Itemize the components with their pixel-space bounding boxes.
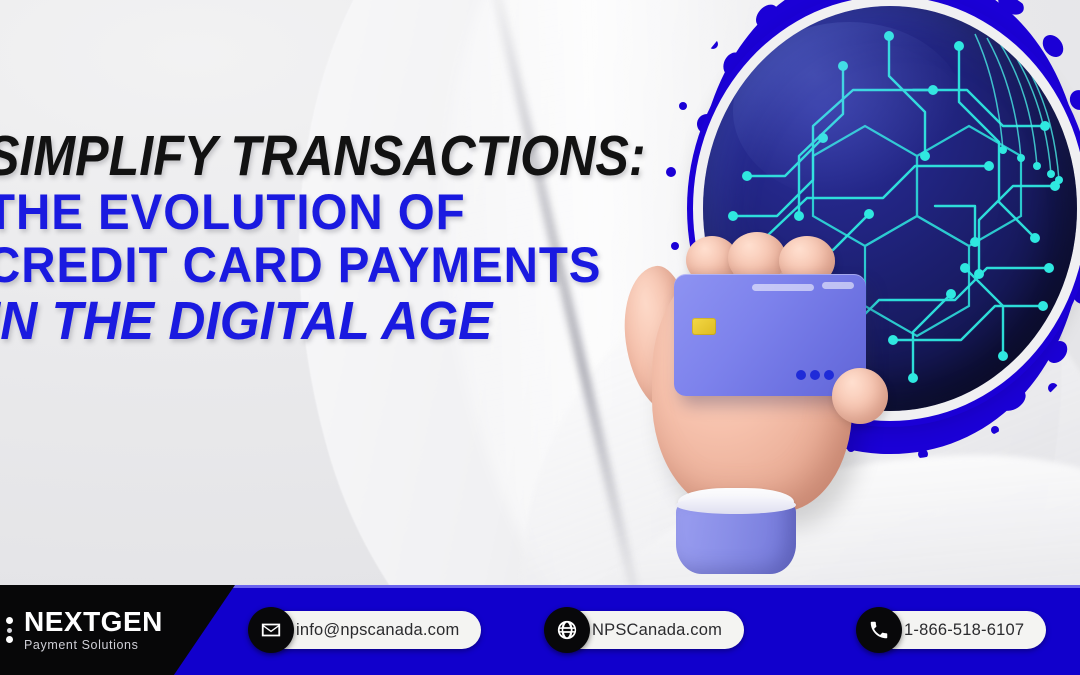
headline-block: SIMPLIFY TRANSACTIONS: THE EVOLUTION OF … [0, 130, 626, 346]
contact-email[interactable]: info@npscanada.com [252, 611, 481, 649]
headline-line-4: IN THE DIGITAL AGE [0, 296, 594, 346]
headline-line-3: CREDIT CARD PAYMENTS [0, 242, 594, 289]
logo-tagline: Payment Solutions [24, 639, 163, 652]
contact-website[interactable]: NPSCanada.com [548, 611, 744, 649]
card-stripe-long [752, 284, 814, 291]
card-chip-icon [692, 318, 716, 335]
phone-icon [856, 607, 902, 653]
contact-website-label: NPSCanada.com [592, 621, 722, 640]
contact-phone-label: 1-866-518-6107 [904, 621, 1024, 640]
logo-mark-icon [6, 617, 20, 643]
contact-email-label: info@npscanada.com [296, 621, 459, 640]
logo-name: NEXTGEN [24, 608, 163, 636]
promo-banner: SIMPLIFY TRANSACTIONS: THE EVOLUTION OF … [0, 0, 1080, 675]
card-stripe-short [822, 282, 854, 289]
card-dot [824, 370, 834, 380]
hand-holding-credit-card [620, 230, 920, 575]
globe-highlight [733, 22, 965, 200]
footer-bar: NEXTGEN Payment Solutions info@npscanada… [0, 585, 1080, 675]
globe-icon [544, 607, 590, 653]
sleeve [676, 502, 796, 574]
finger-pinky [832, 368, 888, 424]
envelope-icon [248, 607, 294, 653]
headline-line-1: SIMPLIFY TRANSACTIONS: [0, 130, 549, 183]
headline-line-2: THE EVOLUTION OF [0, 189, 594, 236]
card-dot [796, 370, 806, 380]
card-dot [810, 370, 820, 380]
brand-logo[interactable]: NEXTGEN Payment Solutions [0, 585, 235, 675]
contact-phone[interactable]: 1-866-518-6107 [860, 611, 1046, 649]
